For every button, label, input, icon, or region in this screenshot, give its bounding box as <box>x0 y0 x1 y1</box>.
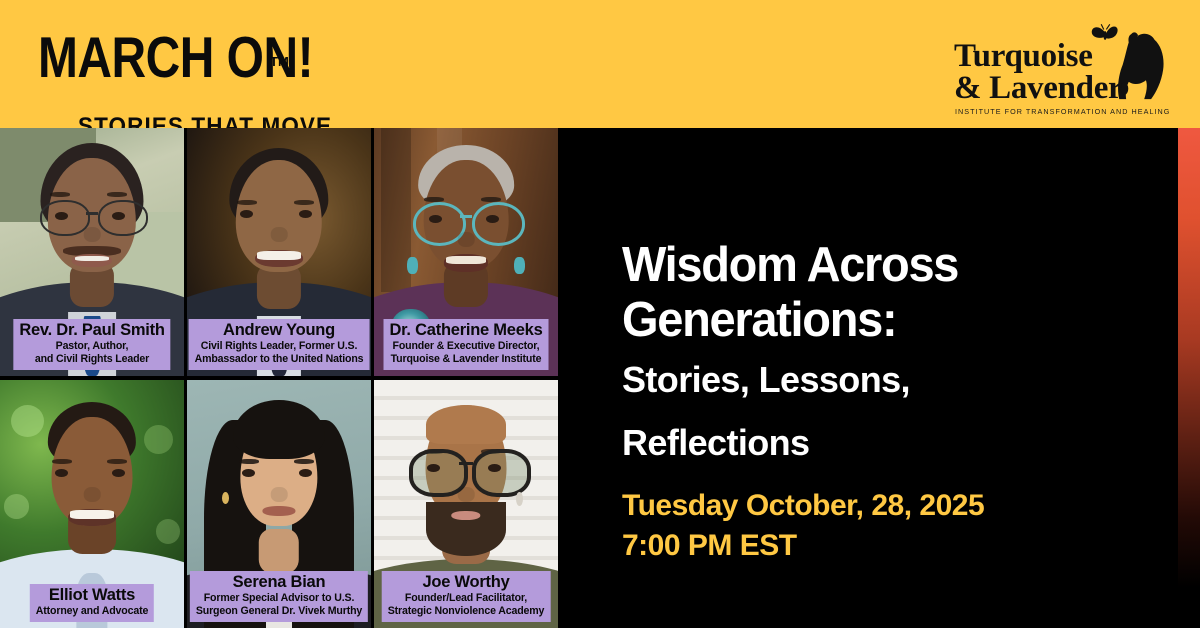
header-bar: MARCH ON! TM STORIES THAT MOVE <box>0 0 1200 128</box>
event-date: Tuesday October, 28, 2025 <box>622 486 1152 526</box>
speaker-title-line1: Attorney and Advocate <box>36 605 148 618</box>
tl-logo-line2: & Lavender <box>954 72 1122 105</box>
speaker-title-line2: Turquoise & Lavender Institute <box>390 353 543 366</box>
speaker-name: Andrew Young <box>195 321 364 340</box>
speaker-photo-grid: Rev. Dr. Paul Smith Pastor, Author, and … <box>0 128 558 628</box>
accent-gradient-strip <box>1178 128 1200 628</box>
speaker-title-line2: and Civil Rights Leader <box>19 353 164 366</box>
speaker-name: Dr. Catherine Meeks <box>390 321 543 340</box>
event-title-line1: Wisdom Across <box>622 236 1152 293</box>
speaker-card: Rev. Dr. Paul Smith Pastor, Author, and … <box>0 128 184 376</box>
event-title-block: Wisdom Across Generations: Stories, Less… <box>622 236 1152 566</box>
tl-logo-line1: Turquoise <box>954 40 1093 73</box>
event-promo-graphic: MARCH ON! TM STORIES THAT MOVE <box>0 0 1200 628</box>
speaker-title-line2: Ambassador to the United Nations <box>195 353 364 366</box>
tl-logo-subtitle: INSTITUTE FOR TRANSFORMATION AND HEALING <box>955 107 1170 116</box>
earring-icon <box>407 257 418 274</box>
speaker-nameplate: Rev. Dr. Paul Smith Pastor, Author, and … <box>13 319 170 370</box>
speaker-nameplate: Serena Bian Former Special Advisor to U.… <box>190 571 368 622</box>
march-on-logo: MARCH ON! TM STORIES THAT MOVE <box>38 28 338 75</box>
trademark-symbol: TM <box>270 54 289 69</box>
speaker-name: Rev. Dr. Paul Smith <box>19 321 164 340</box>
event-time: 7:00 PM EST <box>622 526 1152 566</box>
turquoise-lavender-logo: Turquoise & Lavender INSTITUTE FOR TRANS… <box>954 16 1164 116</box>
speaker-card: Joe Worthy Founder/Lead Facilitator, Str… <box>374 380 558 628</box>
speaker-card: Dr. Catherine Meeks Founder & Executive … <box>374 128 558 376</box>
speaker-name: Elliot Watts <box>36 586 148 605</box>
speaker-nameplate: Joe Worthy Founder/Lead Facilitator, Str… <box>382 571 551 622</box>
earring-icon <box>514 257 525 274</box>
event-title-line2: Generations: <box>622 291 1152 348</box>
speaker-card: Serena Bian Former Special Advisor to U.… <box>187 380 371 628</box>
speaker-title-line2: Surgeon General Dr. Vivek Murthy <box>196 605 362 618</box>
speaker-title-line1: Pastor, Author, <box>19 340 164 353</box>
event-subtitle-line2: Reflections <box>622 416 1152 471</box>
speaker-nameplate: Andrew Young Civil Rights Leader, Former… <box>189 319 370 370</box>
speaker-card: Elliot Watts Attorney and Advocate <box>0 380 184 628</box>
speaker-name: Joe Worthy <box>388 573 545 592</box>
speaker-card: Andrew Young Civil Rights Leader, Former… <box>187 128 371 376</box>
speaker-name: Serena Bian <box>196 573 362 592</box>
speaker-nameplate: Elliot Watts Attorney and Advocate <box>30 584 154 622</box>
speaker-title-line1: Former Special Advisor to U.S. <box>196 592 362 605</box>
speaker-title-line2: Strategic Nonviolence Academy <box>388 605 545 618</box>
event-subtitle-line1: Stories, Lessons, <box>622 353 1152 408</box>
speaker-title-line1: Civil Rights Leader, Former U.S. <box>195 340 364 353</box>
speaker-title-line1: Founder/Lead Facilitator, <box>388 592 545 605</box>
speaker-nameplate: Dr. Catherine Meeks Founder & Executive … <box>384 319 549 370</box>
event-details-panel: Wisdom Across Generations: Stories, Less… <box>558 128 1200 628</box>
speaker-title-line1: Founder & Executive Director, <box>390 340 543 353</box>
